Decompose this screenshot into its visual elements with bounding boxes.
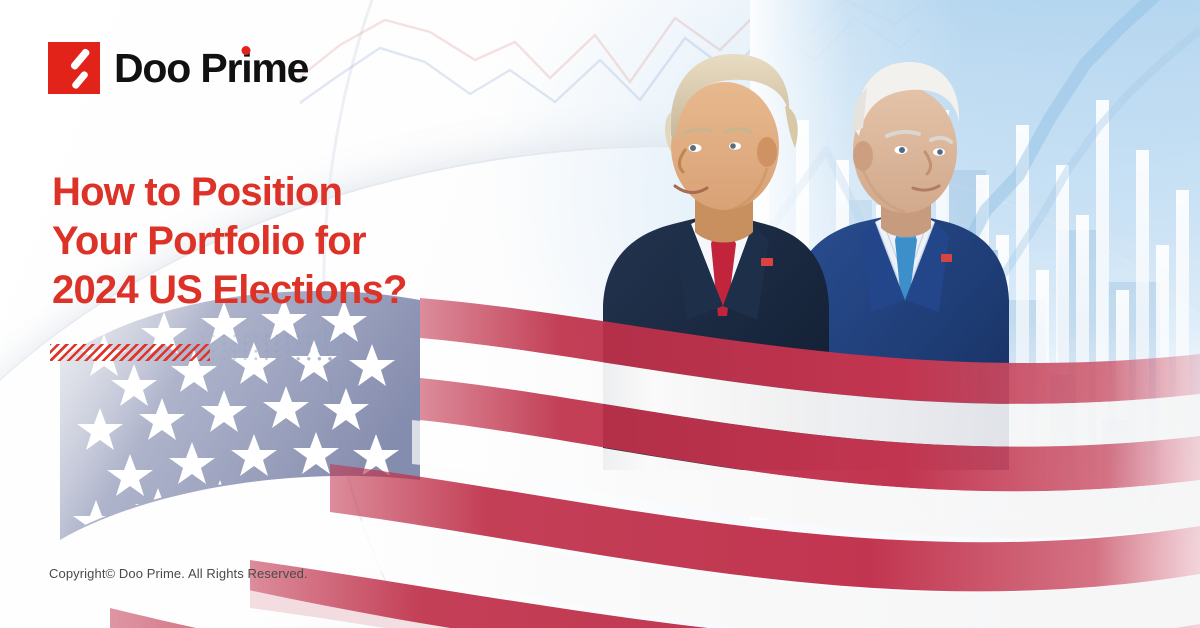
doo-prime-logo-mark: [48, 42, 100, 94]
doo-prime-wordmark: Doo Prime: [114, 48, 308, 89]
headline-line-2: Your Portfolio for: [52, 217, 522, 266]
logo-word-pr: Pr: [200, 45, 241, 91]
logo-word-me: me: [251, 45, 308, 91]
doo-prime-logo[interactable]: Doo Prime: [48, 42, 308, 94]
logo-word-doo: Doo: [114, 45, 190, 91]
promotional-banner: Doo Prime How to Position Your Portfolio…: [0, 0, 1200, 628]
logo-word-i: i: [241, 48, 251, 89]
copyright-text: Copyright© Doo Prime. All Rights Reserve…: [49, 566, 308, 581]
headline-line-3: 2024 US Elections?: [52, 266, 522, 315]
blue-dot-grid: [168, 333, 350, 363]
logo-i-dot: [242, 46, 251, 55]
page-title: How to Position Your Portfolio for 2024 …: [52, 168, 522, 314]
headline-line-1: How to Position: [52, 168, 522, 217]
decorative-accent-row: [50, 333, 350, 367]
